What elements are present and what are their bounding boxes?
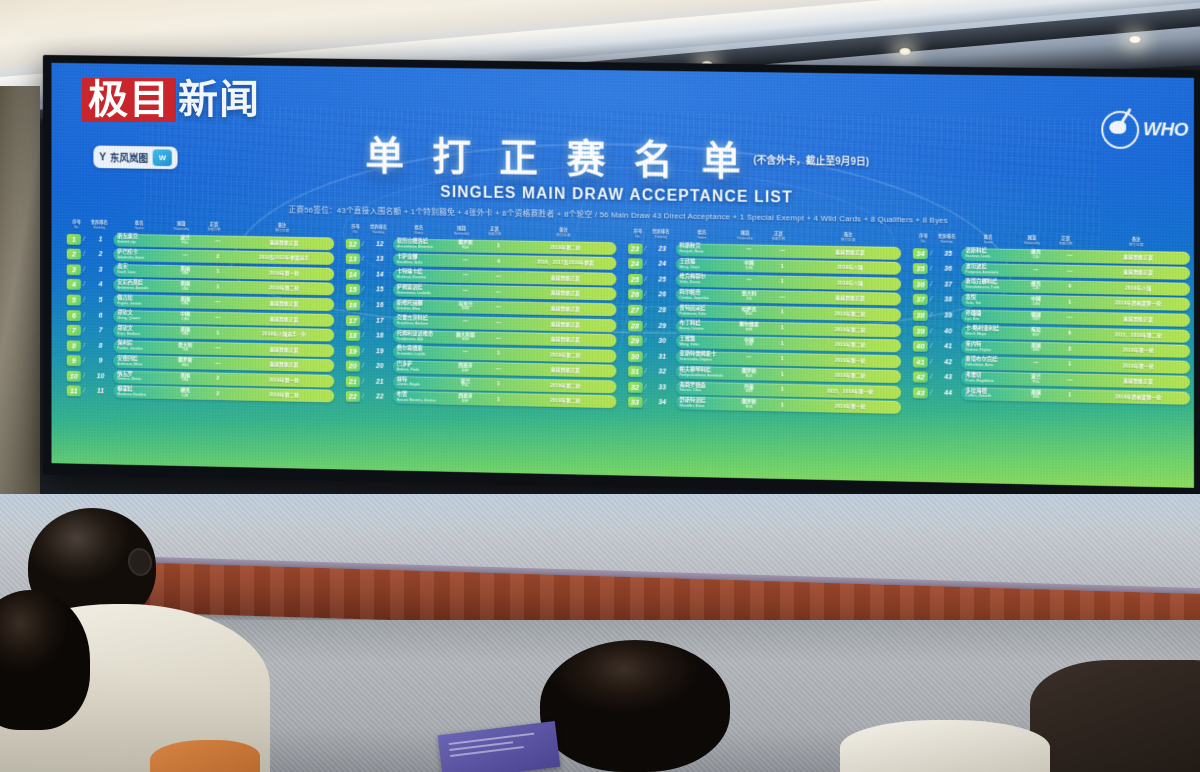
player-band: 斯塔布尔克娃Kalinskaya, Anna—12019年第一轮 <box>962 356 1190 373</box>
participation-count: 2 <box>202 376 235 383</box>
player-note: 2019及2022年参赛选手 <box>234 254 334 263</box>
player-nationality: 美国USA <box>169 267 202 277</box>
seed-badge: 28 <box>628 320 643 331</box>
player-note: 2019年第一轮 <box>799 356 901 365</box>
player-band: 布丁科娃Bucsa, Cristina塞尔维亚SRB12019年第二轮 <box>676 320 902 337</box>
player-nationality: 乌克兰UKR <box>449 302 482 312</box>
header-rank: 世界排名Ranking <box>364 224 393 235</box>
player-nationality: 丹麦DEN <box>732 385 765 395</box>
seed-badge: 24 <box>628 258 643 269</box>
seed-badge: 22 <box>346 391 360 402</box>
world-ranking: 14 <box>367 271 393 278</box>
seed-badge: 1 <box>67 233 81 244</box>
player-name: 巴多萨Badosa, Paula <box>393 362 449 373</box>
player-row: 43/44多拉海德Collins, Danielle美国USA12019年资格赛… <box>913 386 1190 404</box>
player-name: 萨姆索诺娃Samsonova, Liudmila <box>393 286 449 297</box>
participation-count: 1 <box>766 340 799 347</box>
seed-badge: 29 <box>628 335 643 346</box>
downlight-icon <box>1128 35 1142 44</box>
seed-badge: 5 <box>67 294 81 305</box>
participation-count: 1 <box>482 350 515 357</box>
player-name: 亚历山德洛娃Alexandrova, Ekaterina <box>393 240 449 250</box>
seed-badge: 7 <box>67 325 81 336</box>
player-nationality: — <box>449 273 482 279</box>
world-ranking: 22 <box>367 394 393 401</box>
slash-icon: / <box>83 373 88 380</box>
player-band: 卡-略利亚利娃Sherif, Mayar埃及EGY62015、2019年第二轮 <box>962 325 1190 342</box>
column-rows: 12/12亚历山德洛娃Alexandrova, Ekaterina俄罗斯RUS1… <box>346 237 616 408</box>
slash-icon: / <box>362 286 367 293</box>
player-name: 纳瓦罗Navarro, Emma <box>113 372 168 383</box>
player-note: 直接晋级正赛 <box>515 366 616 375</box>
player-row: 26/26科尔帕奇Cristian, Jaqueline意大利ITA—直接晋级正… <box>628 288 902 306</box>
player-note: 2019年第一轮 <box>1087 362 1190 371</box>
player-band: 托姆利亚诺维奇Tomljanovic, Ajla澳大利亚AUS—直接晋级正赛 <box>393 330 616 347</box>
slash-icon: / <box>644 368 649 375</box>
slash-icon: / <box>644 399 649 406</box>
slash-icon: / <box>930 281 935 288</box>
seed-badge: 2 <box>67 249 81 260</box>
participation-count: — <box>1053 377 1087 384</box>
participation-count: 1 <box>766 356 799 363</box>
player-nationality: 捷克CZE <box>1019 281 1053 291</box>
column-rows: 1/1斯瓦泰克Swiatek, Iga波兰POL—直接晋级正赛2/2萨巴伦卡Sa… <box>67 233 334 403</box>
player-note: 直接晋级正赛 <box>799 248 901 257</box>
participation-count: 1 <box>482 397 515 404</box>
list-column: 序号No. 世界排名Ranking 姓名Name 国籍Nationality 正… <box>913 233 1190 423</box>
player-row: 24/24王欣瑜Wang, Xinyu中国CHN12019年八强 <box>628 257 902 275</box>
audience-member-body <box>840 720 1050 772</box>
participation-count: 6 <box>1053 330 1087 337</box>
world-ranking: 1 <box>88 236 114 243</box>
player-name: 布赞Bouzas Maneiro, Jessica <box>393 393 449 404</box>
participation-count: 1 <box>482 243 515 249</box>
player-row: 16/16斯维托丽娜Svitolina, Elina乌克兰UKR—直接晋级正赛 <box>346 298 616 316</box>
player-note: 2019年第二轮 <box>515 243 616 252</box>
world-ranking: 40 <box>935 328 962 335</box>
player-nationality: 美国USA <box>169 297 202 307</box>
slash-icon: / <box>644 353 649 360</box>
player-band: 王欣瑜Wang, Xinyu中国CHN12019年八强 <box>676 258 902 275</box>
seed-badge: 8 <box>67 340 81 351</box>
world-ranking: 18 <box>367 332 393 339</box>
player-nationality: 德国GER <box>1019 313 1053 323</box>
player-row: 11/11穆霍娃Muchova, Karolina捷克CZE22019年第二轮 <box>67 385 334 403</box>
player-nationality: 澳大利亚AUS <box>449 333 482 343</box>
seed-badge: 34 <box>913 248 928 259</box>
slash-icon: / <box>83 281 88 288</box>
world-ranking: 6 <box>88 312 114 319</box>
participation-count: — <box>766 248 799 255</box>
slash-icon: / <box>362 348 367 355</box>
world-ranking: 16 <box>367 302 393 309</box>
player-nationality: 中国CHN <box>732 261 765 271</box>
slash-icon: / <box>930 390 935 397</box>
participation-count: — <box>482 320 515 327</box>
player-note: 2019年第一轮 <box>234 376 334 385</box>
player-nationality: 意大利ITA <box>732 292 765 302</box>
player-name: 斯塔克娜科娃Starodubtseva, Yuliia <box>962 280 1019 291</box>
player-note: 直接晋级正赛 <box>1087 253 1190 262</box>
player-note: 2019年第二轮 <box>234 284 334 293</box>
player-nationality: 塞尔维亚SRB <box>732 323 765 333</box>
header-name: 姓名Name <box>962 234 1015 245</box>
participation-count: 1 <box>482 381 515 388</box>
player-note: 直接晋级正赛 <box>234 345 334 354</box>
player-note: 2019年第二轮 <box>799 310 901 319</box>
player-name: 斯维托丽娜Svitolina, Elina <box>393 301 449 312</box>
player-name: 卡特琳卡娃Muchova, Karolina <box>393 270 449 281</box>
player-note: 2019年八强选手 · 外 <box>234 330 334 339</box>
seed-badge: 19 <box>346 345 360 356</box>
player-nationality: — <box>169 253 202 259</box>
participation-count: 1 <box>202 284 235 290</box>
header-rank: 世界排名Ranking <box>85 220 114 231</box>
player-band: 海莉罗德森Tauson, Clara丹麦DEN12015、2019年第一轮 <box>676 382 902 399</box>
slash-icon: / <box>930 359 935 366</box>
participation-count: 1 <box>202 330 235 336</box>
player-band: 诺斯科娃Noskova, Linda捷克CZE—直接晋级正赛 <box>962 248 1190 265</box>
world-ranking: 44 <box>935 390 962 397</box>
stage-highlight <box>0 494 1200 540</box>
player-band: 巴多萨Badosa, Paula西班牙ESP—直接晋级正赛 <box>393 361 616 378</box>
world-ranking: 31 <box>649 353 675 360</box>
participation-count: 1 <box>766 279 799 286</box>
seed-badge: 27 <box>628 305 643 316</box>
player-band: 郑钦文Keys, Madison美国USA12019年八强选手 · 外 <box>113 325 333 342</box>
header-note: 备注单打/正赛 <box>1083 236 1190 248</box>
left-wall <box>0 86 40 556</box>
slash-icon: / <box>362 271 367 278</box>
seed-badge: 39 <box>913 325 928 336</box>
player-name: 佩古拉Pegula, Jessica <box>113 296 168 306</box>
player-name: 普特因采娃Putintseva, Yulia <box>676 306 733 317</box>
player-band: 布赞Bouzas Maneiro, Jessica西班牙ESP12019年第二轮 <box>393 391 616 408</box>
world-ranking: 23 <box>649 245 675 252</box>
audience-member-body <box>1030 660 1200 772</box>
player-band: 纳瓦罗Navarro, Emma美国USA22019年第一轮 <box>113 371 333 388</box>
slash-icon: / <box>930 297 935 304</box>
participation-count: — <box>482 366 515 373</box>
player-band: 波坦波娃Potapova, Anastasia——直接晋级正赛 <box>962 263 1190 280</box>
player-band: 费尔南德斯Fernandez, Leylah—12019年第二轮 <box>393 345 616 362</box>
header-note: 备注单打/正赛 <box>230 222 334 234</box>
player-band: 卡特琳卡娃Muchova, Karolina——直接晋级正赛 <box>393 269 616 286</box>
player-note: 2019年资格赛第一轮 <box>1087 393 1190 402</box>
player-note: 直接晋级正赛 <box>234 299 334 308</box>
player-row: 12/12亚历山德洛娃Alexandrova, Ekaterina俄罗斯RUS1… <box>346 237 616 254</box>
player-note: 直接晋级正赛 <box>515 289 616 298</box>
player-note: 2019年第一轮 <box>1087 346 1190 355</box>
header-note: 备注单打/正赛 <box>511 227 616 239</box>
player-nationality: 波兰POL <box>449 379 482 389</box>
list-column: 序号No. 世界排名Ranking 姓名Name 国籍Nationality 正… <box>628 229 902 417</box>
title-note: (不含外卡，截止至9月9日) <box>753 155 869 168</box>
player-note: 2015、2019年第一轮 <box>799 387 901 396</box>
player-row: 15/15萨姆索诺娃Samsonova, Liudmila——直接晋级正赛 <box>346 283 616 301</box>
player-name: 弗雷切Frech, Magdalena <box>962 373 1019 384</box>
participation-count: 1 <box>1053 361 1087 368</box>
world-ranking: 17 <box>367 317 393 324</box>
player-note: 直接晋级正赛 <box>515 335 616 344</box>
seed-badge: 32 <box>628 382 643 393</box>
participation-count: 3 <box>1053 346 1087 353</box>
seed-badge: 33 <box>628 397 643 408</box>
player-name: 郑钦文Zheng, Qinwen <box>113 311 168 321</box>
player-band: 萨姆索诺娃Samsonova, Liudmila——直接晋级正赛 <box>393 284 616 301</box>
player-band: 卡萨金娜Kasatkina, Daria—42016、2017及2019年参赛 <box>393 253 616 270</box>
participation-count: — <box>202 238 235 244</box>
player-note: 2016、2017及2019年参赛 <box>515 258 616 267</box>
world-ranking: 19 <box>367 348 393 355</box>
player-name: 布丁科娃Bucsa, Cristina <box>676 321 733 332</box>
world-ranking: 37 <box>935 281 962 288</box>
player-row: 36/37斯塔克娜科娃Starodubtseva, Yuliia捷克CZE420… <box>913 278 1190 296</box>
seed-badge: 25 <box>628 274 643 285</box>
slash-icon: / <box>644 276 649 283</box>
player-name: 波坦波娃Potapova, Anastasia <box>962 265 1019 276</box>
header-count: 正赛参赛次数 <box>1049 236 1083 247</box>
column-rows: 23/23科斯秋克Kostyuk, Marta——直接晋级正赛24/24王欣瑜W… <box>628 242 902 414</box>
slash-icon: / <box>83 236 88 243</box>
player-name: 卡萨金娜Kasatkina, Daria <box>393 255 449 265</box>
player-name: 费尔南德斯Fernandez, Leylah <box>393 347 449 358</box>
player-row: 22/22布赞Bouzas Maneiro, Jessica西班牙ESP1201… <box>346 390 616 408</box>
player-name: 帕夫柳琴科娃Pavlyuchenkova, Anastasia <box>676 368 733 379</box>
audience-member-arm <box>150 740 260 772</box>
participation-count: 4 <box>482 258 515 264</box>
world-ranking: 21 <box>367 378 393 385</box>
player-name: 斯瓦泰克Swiatek, Iga <box>113 235 168 245</box>
participation-count: — <box>202 345 235 352</box>
player-band: 亚历山德洛娃Alexandrova, Ekaterina俄罗斯RUS12019年… <box>393 238 616 255</box>
slash-icon: / <box>83 327 88 334</box>
world-ranking: 38 <box>935 297 962 304</box>
header-seed: 序号No. <box>69 219 85 230</box>
player-band: 安尼西莫娃Anisimova, Amanda美国USA12019年第二轮 <box>113 279 333 296</box>
slash-icon: / <box>930 374 935 381</box>
player-note: 2019年第二轮 <box>799 372 901 381</box>
player-nationality: 中国CHN <box>732 338 765 348</box>
seed-badge: 43 <box>913 387 928 398</box>
slash-icon: / <box>644 245 649 252</box>
title-chinese: 单 打 正 赛 名 单 <box>365 124 749 187</box>
seed-badge: 3 <box>67 264 81 275</box>
world-ranking: 7 <box>88 327 114 334</box>
slash-icon: / <box>644 307 649 314</box>
world-ranking: 2 <box>88 251 114 258</box>
slash-icon: / <box>362 240 367 247</box>
player-note: 直接晋级正赛 <box>1087 315 1190 324</box>
world-ranking: 11 <box>88 388 114 395</box>
seed-badge: 15 <box>346 284 360 295</box>
player-band: 佩古拉Pegula, Jessica美国USA—直接晋级正赛 <box>113 294 333 311</box>
participation-count: — <box>1053 315 1087 322</box>
player-nationality: — <box>732 356 765 362</box>
player-band: 科尔帕奇Cristian, Jaqueline意大利ITA—直接晋级正赛 <box>676 289 902 306</box>
header-nationality: 国籍Nationality <box>728 230 761 241</box>
seed-badge: 41 <box>913 356 928 367</box>
slash-icon: / <box>83 342 88 349</box>
slash-icon: / <box>83 388 88 395</box>
header-seed: 序号No. <box>915 233 932 244</box>
header-count: 正赛参赛次数 <box>762 231 795 242</box>
player-nationality: 波兰POL <box>169 236 202 246</box>
player-nationality: 美国USA <box>169 373 202 383</box>
player-nationality: — <box>732 247 765 253</box>
seed-badge: 12 <box>346 238 360 249</box>
column-header: 序号No. 世界排名Ranking 姓名Name 国籍Nationality 正… <box>913 233 1190 248</box>
participation-count: — <box>202 299 235 305</box>
participation-count: 1 <box>766 402 799 409</box>
watermark-white-text: 新闻 <box>178 80 260 120</box>
header-note: 备注单打/正赛 <box>795 231 901 243</box>
participation-count: 1 <box>766 387 799 394</box>
world-ranking: 9 <box>88 358 114 365</box>
player-note: 2019年第一轮 <box>234 269 334 278</box>
player-note: 直接晋级正赛 <box>1087 268 1190 277</box>
player-name: 萨巴伦卡Sabalenka, Aryna <box>113 250 168 260</box>
player-nationality: — <box>449 289 482 295</box>
screen-surface: Y 东风岚图 W WHO 单 打 正 赛 名 单(不含外卡，截止至9月9日) S… <box>51 63 1194 488</box>
player-name: 安尼西莫娃Anisimova, Amanda <box>113 281 168 291</box>
world-ranking: 41 <box>935 343 962 350</box>
header-seed: 序号No. <box>630 229 647 240</box>
participation-count: — <box>202 315 235 321</box>
player-note: 2019年八强 <box>799 279 901 288</box>
seed-badge: 26 <box>628 289 643 300</box>
seed-badge: 37 <box>913 294 928 305</box>
player-note: 直接晋级正赛 <box>515 320 616 329</box>
participation-count: 4 <box>1053 284 1087 291</box>
player-nationality: 美国USA <box>169 282 202 292</box>
player-row: 37/38袁悦Yuan, Yue中国CHN12019年资格赛第一轮 <box>913 293 1190 311</box>
header-rank: 世界排名Ranking <box>932 234 962 245</box>
slash-icon: / <box>644 384 649 391</box>
watermark-red-block: 极目 <box>82 78 176 122</box>
world-ranking: 28 <box>649 307 675 314</box>
player-nationality: 哈萨克KAZ <box>732 307 765 317</box>
world-ranking: 13 <box>367 256 393 263</box>
player-nationality: 美国USA <box>169 328 202 338</box>
player-band: 孙璐璐Lys, Eva德国GER—直接晋级正赛 <box>962 310 1190 327</box>
world-ranking: 32 <box>649 369 675 376</box>
player-nationality: — <box>449 350 482 356</box>
participation-count: 1 <box>766 371 799 378</box>
player-name: 斯塔布尔克娃Kalinskaya, Anna <box>962 358 1019 369</box>
header-name: 姓名Name <box>676 229 729 240</box>
player-note: 2019年第一轮 <box>799 402 901 411</box>
player-note: 2019年第二轮 <box>515 351 616 360</box>
seed-badge: 17 <box>346 315 360 326</box>
participation-count: — <box>482 335 515 342</box>
world-ranking: 24 <box>649 261 675 268</box>
player-note: 2015、2019年第二轮 <box>1087 330 1190 339</box>
slash-icon: / <box>362 394 367 401</box>
player-nationality: — <box>449 258 482 264</box>
world-ranking: 12 <box>367 240 393 247</box>
player-nationality: — <box>732 278 765 284</box>
player-name: 郑钦文Keys, Madison <box>113 326 168 337</box>
slash-icon: / <box>362 378 367 385</box>
participation-count: — <box>482 289 515 296</box>
slash-icon: / <box>362 332 367 339</box>
player-nationality: 中国CHN <box>1019 297 1053 307</box>
player-nationality: 捷克CZE <box>1019 250 1053 260</box>
press-conference-photo: Y 东风岚图 W WHO 单 打 正 赛 名 单(不含外卡，截止至9月9日) S… <box>0 0 1200 772</box>
header-rank: 世界排名Ranking <box>646 229 675 240</box>
player-note: 2019年资格赛第一轮 <box>1087 299 1190 308</box>
header-nationality: 国籍Nationality <box>1015 235 1049 246</box>
participation-count: 2 <box>202 253 235 259</box>
player-nationality: 俄罗斯RUS <box>449 241 482 251</box>
player-name: 多拉海德Collins, Danielle <box>962 389 1019 400</box>
slash-icon: / <box>362 317 367 324</box>
participation-count: 1 <box>766 263 799 270</box>
acceptance-list: 序号No. 世界排名Ranking 姓名Name 国籍Nationality 正… <box>67 219 1190 423</box>
player-name: 莱内特Stearns, Peyton <box>962 342 1019 353</box>
slash-icon: / <box>644 338 649 345</box>
player-band: 保利尼Paolini, Jasmine意大利ITA—直接晋级正赛 <box>113 340 333 357</box>
slash-icon: / <box>83 312 88 319</box>
participation-count: 1 <box>1053 392 1087 399</box>
player-name: 科斯秋克Kostyuk, Marta <box>676 244 733 255</box>
world-ranking: 43 <box>935 374 962 381</box>
player-nationality: 意大利ITA <box>169 343 202 353</box>
slash-icon: / <box>83 358 88 365</box>
player-name: 维克梅耶尔Vekic, Donna <box>676 275 733 286</box>
player-note: 2019年八强 <box>1087 284 1190 293</box>
participation-count: — <box>1053 268 1087 275</box>
seed-badge: 14 <box>346 269 360 280</box>
player-nationality: — <box>1019 268 1053 274</box>
audience-member-head <box>540 640 730 772</box>
player-row: 4/4安尼西莫娃Anisimova, Amanda美国USA12019年第二轮 <box>67 278 334 296</box>
player-note: 直接晋级正赛 <box>1087 377 1190 386</box>
player-band: 亚斯特雷姆斯卡Yastremska, Dayana—12019年第一轮 <box>676 351 902 368</box>
title-block: 单 打 正 赛 名 单(不含外卡，截止至9月9日) SINGLES MAIN D… <box>51 119 1194 229</box>
seed-badge: 35 <box>913 263 928 274</box>
seed-badge: 31 <box>628 366 643 377</box>
slash-icon: / <box>644 261 649 268</box>
world-ranking: 29 <box>649 322 675 329</box>
slash-icon: / <box>83 266 88 273</box>
header-nationality: 国籍Nationality <box>165 221 198 232</box>
player-name: 高芙Gauff, Coco <box>113 265 168 275</box>
slash-icon: / <box>930 265 935 272</box>
world-ranking: 20 <box>367 363 393 370</box>
player-band: 斯维托丽娜Svitolina, Elina乌克兰UKR—直接晋级正赛 <box>393 299 616 316</box>
participation-count: 2 <box>202 391 235 398</box>
seed-badge: 20 <box>346 361 360 372</box>
player-name: 亚斯特雷姆斯卡Yastremska, Dayana <box>676 352 733 363</box>
player-nationality: 美国USA <box>1019 344 1053 354</box>
player-band: 多拉海德Collins, Danielle美国USA12019年资格赛第一轮 <box>962 387 1190 404</box>
slash-icon: / <box>362 256 367 263</box>
player-note: 直接晋级正赛 <box>515 274 616 283</box>
player-row: 33/34舒斯特诺娃Shnaider, Diana俄罗斯RUS12019年第一轮 <box>628 396 902 414</box>
player-name: 王雅繁Wang, Yafan <box>676 337 733 348</box>
slash-icon: / <box>83 251 88 258</box>
player-name: 诺斯科娃Noskova, Linda <box>962 249 1019 260</box>
world-ranking: 34 <box>649 399 675 406</box>
participation-count: — <box>482 304 515 311</box>
player-nationality: 捷克CZE <box>169 389 202 399</box>
player-row: 23/23科斯秋克Kostyuk, Marta——直接晋级正赛 <box>628 242 902 260</box>
player-row: 35/36波坦波娃Potapova, Anastasia——直接晋级正赛 <box>913 262 1190 280</box>
seed-badge: 11 <box>67 386 81 397</box>
participation-count: 1 <box>766 325 799 332</box>
